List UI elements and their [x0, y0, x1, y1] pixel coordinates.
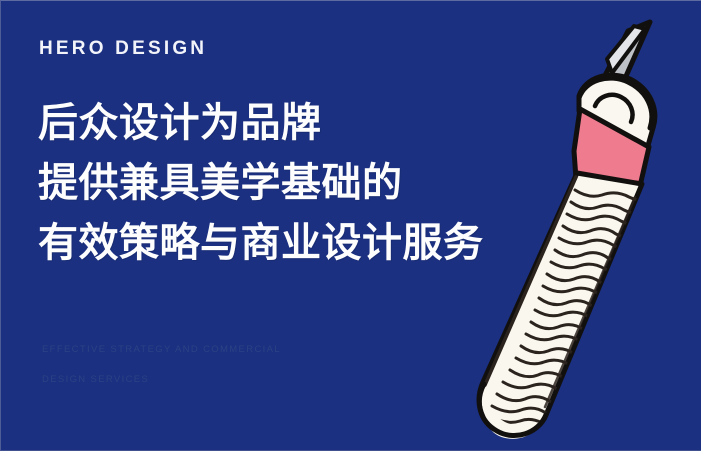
subtitle-line-1: EFFECTIVE STRATEGY AND COMMERCIAL: [42, 335, 281, 365]
knife-grip-group: [479, 173, 651, 439]
headline-line-2: 提供兼具美学基础的: [38, 153, 484, 213]
subtitle-block: EFFECTIVE STRATEGY AND COMMERCIAL DESIGN…: [42, 335, 281, 395]
page-title: 后众设计为品牌 提供兼具美学基础的 有效策略与商业设计服务: [38, 93, 484, 273]
headline-line-1: 后众设计为品牌: [38, 93, 484, 153]
poster-canvas: HERO DESIGN 后众设计为品牌 提供兼具美学基础的 有效策略与商业设计服…: [0, 0, 701, 451]
headline-line-3: 有效策略与商业设计服务: [38, 213, 484, 273]
brand-logotype: HERO DESIGN: [39, 37, 207, 61]
subtitle-line-2: DESIGN SERVICES: [42, 365, 281, 395]
